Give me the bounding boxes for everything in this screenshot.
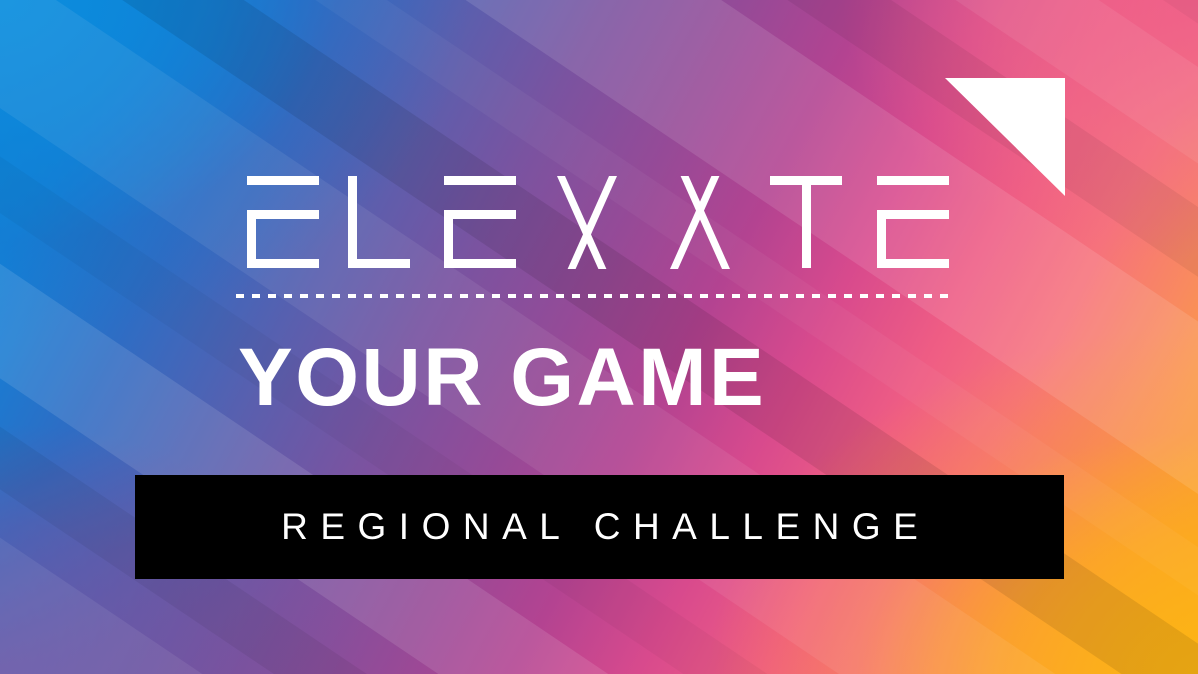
- letter-glyph-a: [658, 176, 742, 268]
- glyph-bar: [348, 259, 410, 268]
- headline-elevate: [241, 176, 949, 268]
- letter-glyph-e-1: [241, 176, 319, 268]
- letter-glyph-e-2: [438, 176, 516, 268]
- glyph-bar: [877, 176, 949, 185]
- glyph-bar: [444, 176, 516, 185]
- graphic-content: YOUR GAME REGIONAL CHALLENGE: [0, 0, 1198, 674]
- letter-glyph-e-3: [871, 176, 949, 268]
- glyph-bar: [877, 210, 949, 219]
- regional-challenge-banner: REGIONAL CHALLENGE: [135, 475, 1064, 579]
- promo-banner-graphic: YOUR GAME REGIONAL CHALLENGE: [0, 0, 1198, 674]
- letter-glyph-l: [348, 176, 410, 268]
- letter-glyph-t: [770, 176, 842, 268]
- glyph-bar: [877, 259, 949, 268]
- glyph-bar: [348, 176, 357, 268]
- subheadline-your-game: YOUR GAME: [238, 332, 958, 424]
- glyph-bar: [444, 210, 516, 219]
- glyph-bar: [802, 176, 811, 268]
- glyph-bar: [247, 176, 319, 185]
- letter-glyph-v: [545, 176, 629, 268]
- glyph-bar: [247, 259, 319, 268]
- glyph-bar: [444, 259, 516, 268]
- banner-label: REGIONAL CHALLENGE: [269, 506, 931, 548]
- dashed-divider: [236, 294, 950, 298]
- glyph-bar: [247, 210, 319, 219]
